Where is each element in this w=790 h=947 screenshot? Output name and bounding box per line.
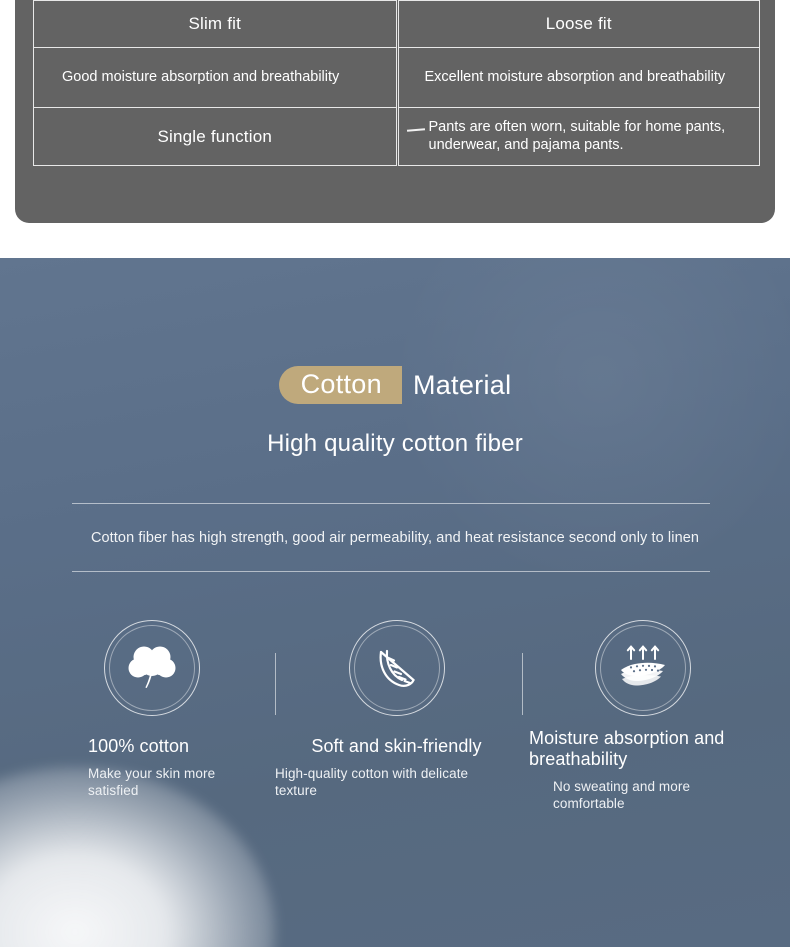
table-cell-single-function: Single function	[33, 108, 397, 166]
fabric-breathability-icon	[595, 620, 691, 716]
cell-text: Good moisture absorption and breathabili…	[34, 48, 396, 107]
table-cell-excellent-moisture: Excellent moisture absorption and breath…	[398, 48, 761, 108]
feature-title: Moisture absorption and breathability	[521, 728, 764, 770]
feather-leaf-icon	[349, 620, 445, 716]
cotton-description: Cotton fiber has high strength, good air…	[0, 530, 790, 546]
icon-wrap	[275, 620, 518, 716]
comparison-card: Slim fit Loose fit Good moisture absorpt…	[15, 0, 775, 223]
feature-subtitle: High-quality cotton with delicate textur…	[275, 766, 518, 800]
table-row: Slim fit Loose fit	[33, 0, 760, 48]
feature-item-breathability: Moisture absorption and breathability No…	[521, 620, 764, 813]
cell-text: Excellent moisture absorption and breath…	[399, 48, 760, 107]
cell-text: Slim fit	[34, 1, 396, 47]
table-cell-pants-usage: Pants are often worn, suitable for home …	[398, 108, 761, 166]
feature-title: 100% cotton	[30, 736, 273, 757]
feature-item-cotton: 100% cotton Make your skin more satisfie…	[30, 620, 273, 813]
table-cell-slim-fit: Slim fit	[33, 0, 397, 48]
cell-text: Loose fit	[399, 1, 760, 47]
table-cell-loose-fit: Loose fit	[398, 0, 761, 48]
material-title-word: Material	[413, 370, 511, 401]
cell-text: Single function	[34, 108, 396, 165]
feature-subtitle: Make your skin more satisfied	[30, 766, 273, 800]
table-row: Single function Pants are often worn, su…	[33, 108, 760, 166]
table-row: Good moisture absorption and breathabili…	[33, 48, 760, 108]
feature-list: 100% cotton Make your skin more satisfie…	[0, 620, 790, 813]
icon-wrap	[30, 620, 273, 716]
feature-title: Soft and skin-friendly	[275, 736, 518, 757]
divider-top	[72, 503, 710, 504]
cotton-badge: Cotton	[279, 366, 402, 404]
feature-subtitle: No sweating and more comfortable	[521, 779, 764, 813]
comparison-table: Slim fit Loose fit Good moisture absorpt…	[33, 0, 760, 166]
cell-text: Pants are often worn, suitable for home …	[399, 108, 760, 165]
cotton-title-row: Cotton Material	[0, 366, 790, 404]
cotton-material-section: Cotton Material High quality cotton fibe…	[0, 258, 790, 947]
cotton-boll-icon	[104, 620, 200, 716]
icon-wrap	[521, 620, 764, 716]
feature-item-soft: Soft and skin-friendly High-quality cott…	[275, 620, 518, 813]
divider-bottom	[72, 571, 710, 572]
table-cell-good-moisture: Good moisture absorption and breathabili…	[33, 48, 397, 108]
cotton-subtitle: High quality cotton fiber	[0, 430, 790, 458]
